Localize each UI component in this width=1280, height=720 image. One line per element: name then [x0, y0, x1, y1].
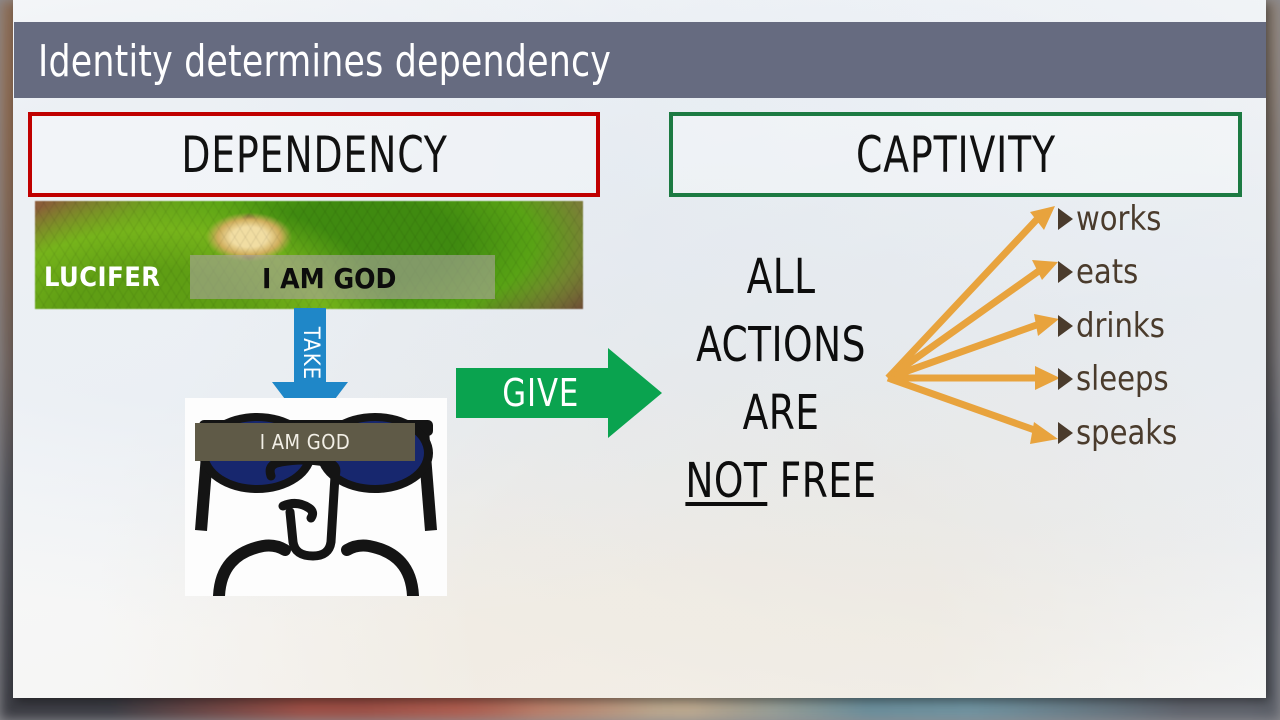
take-arrow-label-wrap: TAKE — [271, 318, 351, 388]
triangle-bullet-icon — [1058, 368, 1073, 390]
page-title: Identity determines dependency — [38, 36, 611, 87]
actions-list: works eats drinks sleeps speaks — [1058, 192, 1258, 460]
statement-line-1: ALL — [681, 243, 881, 311]
list-item: drinks — [1058, 299, 1258, 353]
action-label: works — [1076, 202, 1161, 236]
triangle-bullet-icon — [1058, 261, 1073, 283]
action-label: eats — [1076, 255, 1138, 289]
statement-line-3: ARE — [681, 379, 881, 447]
triangle-bullet-icon — [1058, 208, 1073, 230]
statement-free: FREE — [767, 453, 876, 509]
dependency-header-label: DEPENDENCY — [181, 126, 447, 184]
triangle-bullet-icon — [1058, 315, 1073, 337]
snake-i-am-god-label: I AM GOD — [262, 262, 396, 295]
take-arrow-label: TAKE — [299, 326, 324, 379]
statement-not-underlined: NOT — [685, 453, 767, 509]
snake-i-am-god-overlay: I AM GOD — [190, 255, 495, 299]
list-item: sleeps — [1058, 353, 1258, 407]
dependency-header-box: DEPENDENCY — [28, 112, 600, 197]
person-i-am-god-overlay: I AM GOD — [195, 423, 415, 461]
lucifer-label: LUCIFER — [44, 262, 161, 293]
list-item: eats — [1058, 246, 1258, 300]
list-item: speaks — [1058, 406, 1258, 460]
person-i-am-god-label: I AM GOD — [260, 430, 351, 454]
statement-block: ALL ACTIONS ARE NOT FREE — [666, 243, 896, 515]
list-item: works — [1058, 192, 1258, 246]
action-label: sleeps — [1076, 362, 1169, 396]
captivity-header-label: CAPTIVITY — [856, 126, 1056, 184]
statement-line-4: NOT FREE — [681, 447, 881, 515]
statement-line-2: ACTIONS — [681, 311, 881, 379]
action-label: drinks — [1076, 309, 1165, 343]
give-arrow-label: GIVE — [502, 371, 579, 415]
triangle-bullet-icon — [1058, 422, 1073, 444]
give-arrow-label-wrap: GIVE — [456, 348, 626, 438]
captivity-header-box: CAPTIVITY — [669, 112, 1242, 197]
fan-arrows-icon — [880, 190, 1065, 450]
slide-stage: Identity determines dependency DEPENDENC… — [0, 0, 1280, 720]
action-label: speaks — [1076, 416, 1177, 450]
